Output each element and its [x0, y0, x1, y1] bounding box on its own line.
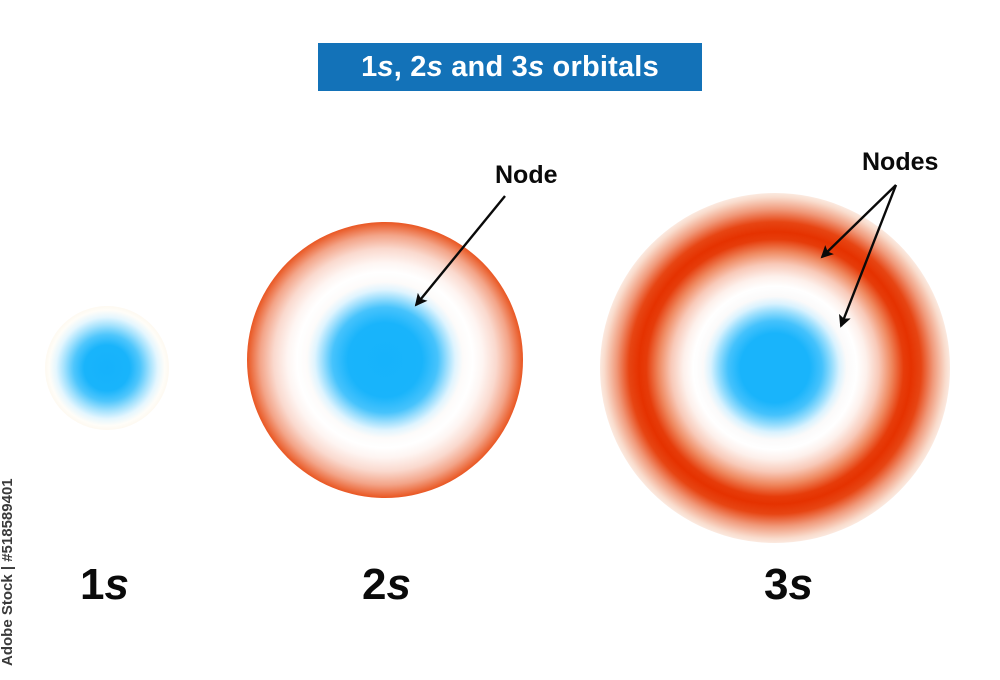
figure-canvas: 1s, 2s and 3s orbitals 1s 2s 3s Node Nod… [0, 0, 1000, 680]
title-segment-f: s [528, 51, 544, 83]
orbital-label-3s: 3s [764, 563, 813, 607]
orbital-label-1s-number: 1 [80, 560, 104, 609]
orbital-diagram-3s [600, 193, 950, 543]
title-segment-a: 1 [361, 51, 377, 83]
orbital-diagram-1s [45, 306, 169, 430]
annotation-label-nodes: Nodes [862, 150, 938, 175]
orbital-diagram-2s [247, 222, 523, 498]
title-segment-g: orbitals [544, 51, 659, 83]
orbital-label-2s-number: 2 [362, 560, 386, 609]
orbital-label-1s: 1s [80, 563, 129, 607]
orbital-label-3s-letter: s [788, 560, 812, 609]
orbital-label-2s: 2s [362, 563, 411, 607]
annotation-label-node: Node [495, 163, 558, 188]
watermark-text: Adobe Stock | #518589401 [0, 478, 15, 666]
page-title: 1s, 2s and 3s orbitals [361, 53, 659, 82]
title-segment-d: s [427, 51, 443, 83]
title-segment-b: s [377, 51, 393, 83]
orbital-label-1s-letter: s [104, 560, 128, 609]
title-segment-c: , 2 [394, 51, 427, 83]
orbital-label-3s-number: 3 [764, 560, 788, 609]
watermark: Adobe Stock | #518589401 [2, 416, 28, 666]
title-banner: 1s, 2s and 3s orbitals [318, 43, 702, 91]
orbital-label-2s-letter: s [386, 560, 410, 609]
title-segment-e: and 3 [443, 51, 528, 83]
